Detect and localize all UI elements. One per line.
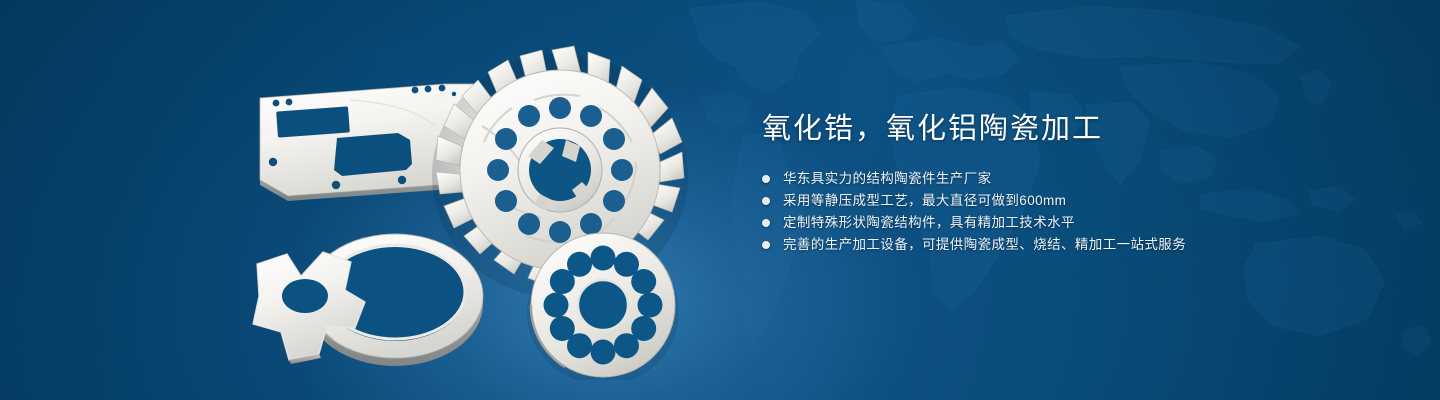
list-item: 华东具实力的结构陶瓷件生产厂家 bbox=[762, 168, 1402, 190]
copy-block: 氧化锆，氧化铝陶瓷加工 华东具实力的结构陶瓷件生产厂家 采用等静压成型工艺，最大… bbox=[762, 112, 1402, 256]
list-item: 完善的生产加工设备，可提供陶瓷成型、烧结、精加工一站式服务 bbox=[762, 234, 1402, 256]
page-title: 氧化锆，氧化铝陶瓷加工 bbox=[762, 112, 1402, 146]
feature-list: 华东具实力的结构陶瓷件生产厂家 采用等静压成型工艺，最大直径可做到600mm 定… bbox=[762, 168, 1402, 256]
hero-banner: 氧化锆，氧化铝陶瓷加工 华东具实力的结构陶瓷件生产厂家 采用等静压成型工艺，最大… bbox=[0, 0, 1440, 400]
bullet-dot-icon bbox=[762, 197, 770, 205]
list-item-label: 定制特殊形状陶瓷结构件，具有精加工技术水平 bbox=[783, 213, 1075, 233]
list-item: 采用等静压成型工艺，最大直径可做到600mm bbox=[762, 190, 1402, 212]
list-item: 定制特殊形状陶瓷结构件，具有精加工技术水平 bbox=[762, 212, 1402, 234]
bullet-dot-icon bbox=[762, 175, 770, 183]
list-item-label: 采用等静压成型工艺，最大直径可做到600mm bbox=[783, 191, 1066, 211]
product-photo-cluster bbox=[230, 30, 730, 380]
bullet-dot-icon bbox=[762, 219, 770, 227]
list-item-label: 完善的生产加工设备，可提供陶瓷成型、烧结、精加工一站式服务 bbox=[783, 235, 1186, 255]
list-item-label: 华东具实力的结构陶瓷件生产厂家 bbox=[783, 169, 992, 189]
bullet-dot-icon bbox=[762, 241, 770, 249]
